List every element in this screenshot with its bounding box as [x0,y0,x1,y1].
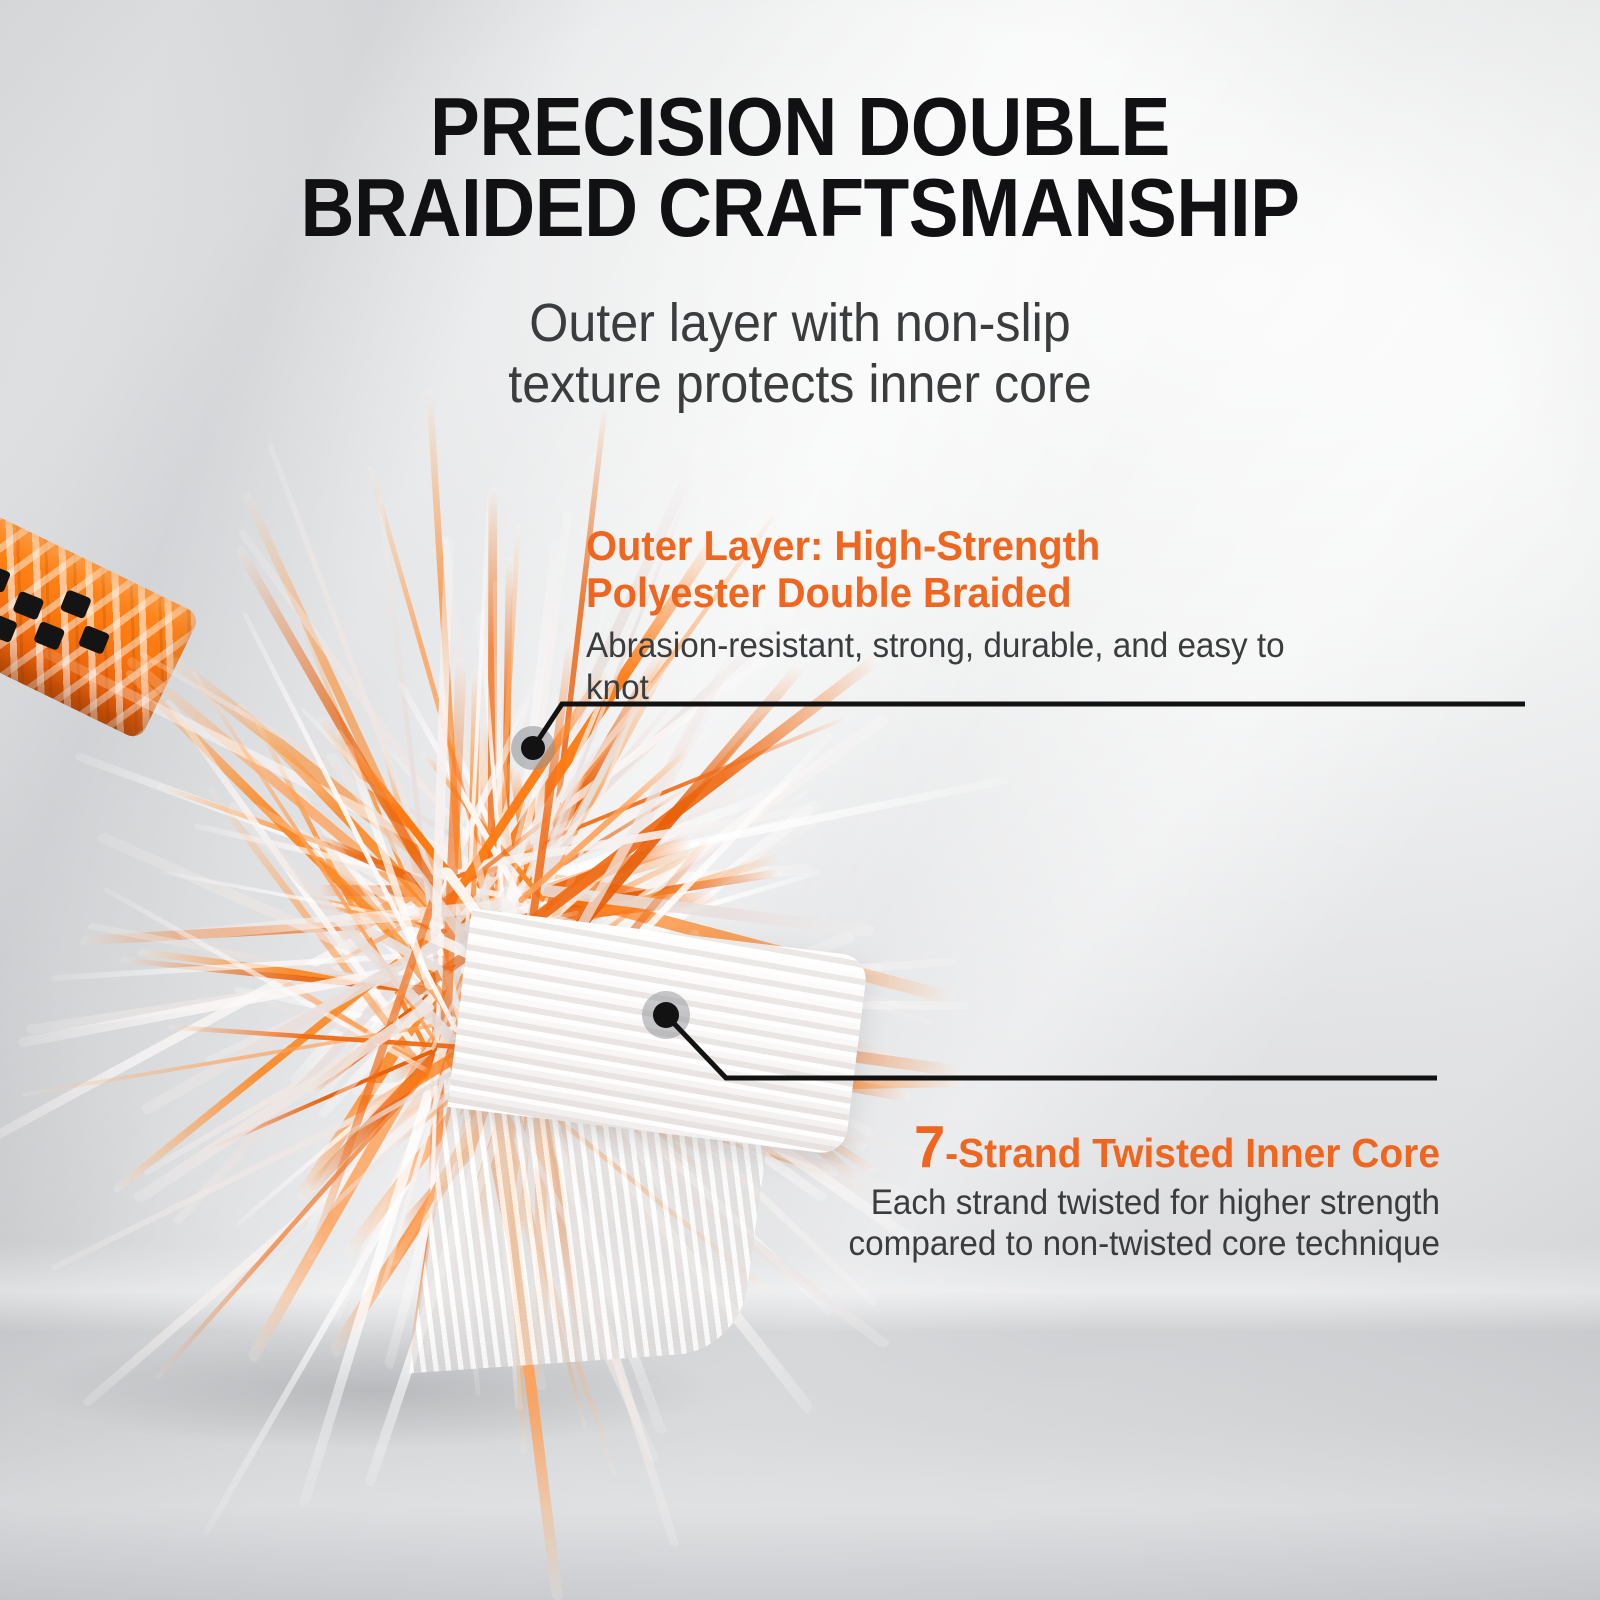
infographic-canvas: PRECISION DOUBLE BRAIDED CRAFTSMANSHIP O… [0,0,1600,1600]
background-vignette [0,0,1600,1600]
